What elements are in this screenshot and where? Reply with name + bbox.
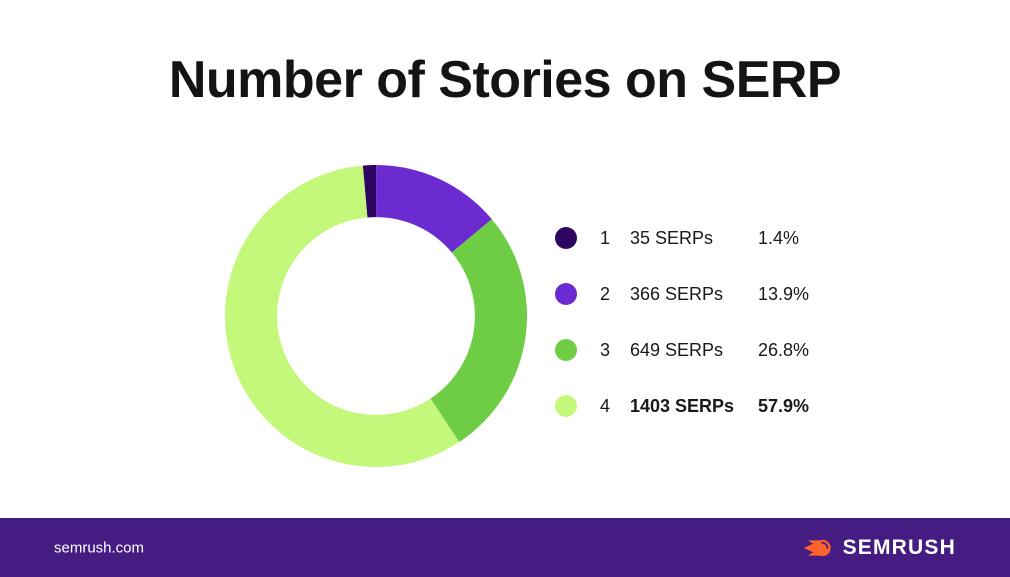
donut-slice-group: [225, 165, 527, 467]
legend-index: 1: [600, 229, 610, 247]
chart-page: Number of Stories on SERP 135 SERPs1.4%2…: [0, 0, 1010, 577]
footer-url: semrush.com: [54, 540, 144, 555]
donut-slice-3[interactable]: [431, 219, 527, 442]
donut-chart-svg: [225, 165, 527, 467]
legend-row[interactable]: 135 SERPs1.4%: [555, 210, 955, 266]
legend-percent: 1.4%: [758, 229, 799, 247]
legend-color-swatch: [555, 339, 577, 361]
legend-value: 1403 SERPs: [630, 397, 734, 415]
semrush-comet-icon: [804, 537, 834, 559]
donut-chart: [225, 165, 527, 467]
chart-legend: 135 SERPs1.4%2366 SERPs13.9%3649 SERPs26…: [555, 210, 955, 434]
legend-row[interactable]: 3649 SERPs26.8%: [555, 322, 955, 378]
legend-value: 366 SERPs: [630, 285, 723, 303]
legend-value: 35 SERPs: [630, 229, 713, 247]
legend-value: 649 SERPs: [630, 341, 723, 359]
legend-index: 4: [600, 397, 610, 415]
legend-color-swatch: [555, 283, 577, 305]
brand-lockup: SEMRUSH: [804, 537, 956, 559]
legend-row[interactable]: 41403 SERPs57.9%: [555, 378, 955, 434]
legend-color-swatch: [555, 227, 577, 249]
brand-wordmark: SEMRUSH: [843, 537, 956, 558]
legend-percent: 57.9%: [758, 397, 809, 415]
legend-index: 3: [600, 341, 610, 359]
legend-percent: 26.8%: [758, 341, 809, 359]
legend-row[interactable]: 2366 SERPs13.9%: [555, 266, 955, 322]
page-title: Number of Stories on SERP: [0, 52, 1010, 108]
footer-bar: semrush.com SEMRUSH: [0, 518, 1010, 577]
legend-index: 2: [600, 285, 610, 303]
legend-color-swatch: [555, 395, 577, 417]
legend-percent: 13.9%: [758, 285, 809, 303]
